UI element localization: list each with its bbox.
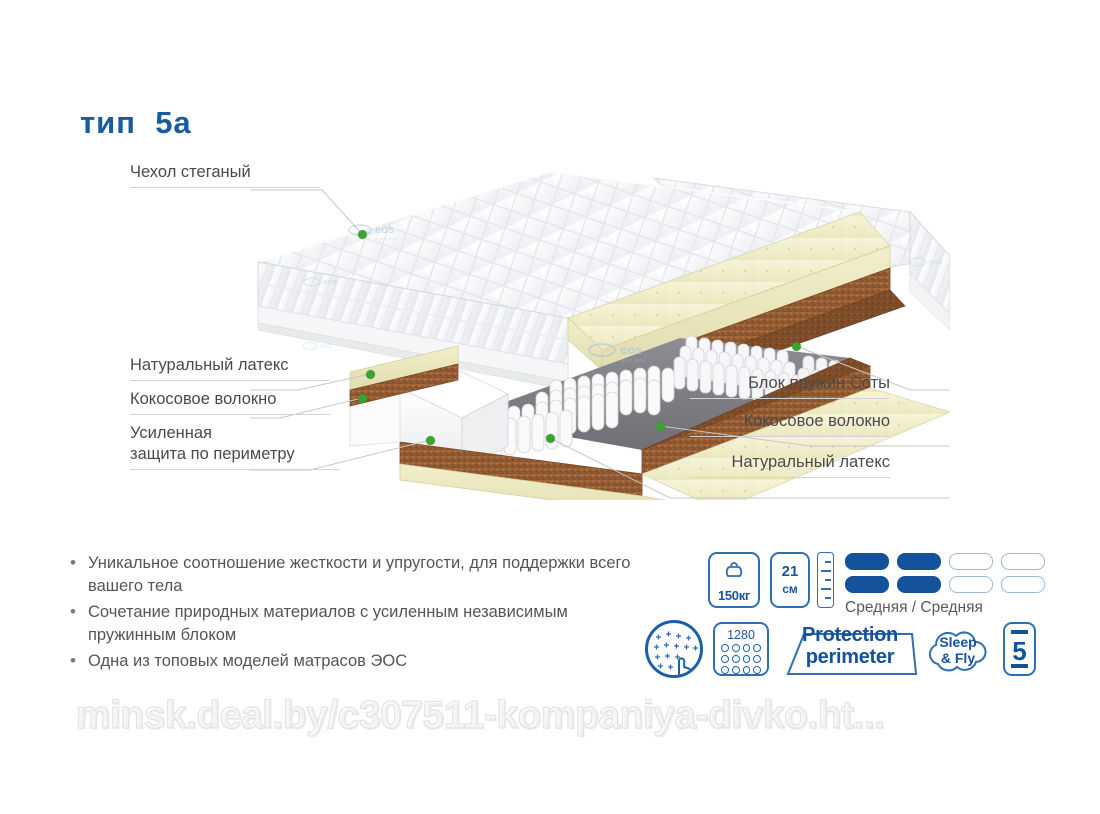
spec-icon-strip: 150кг 21 см bbox=[700, 548, 1055, 688]
feature-list: Уникальное соотношение жесткости и упруг… bbox=[64, 552, 639, 675]
firmness-row-side-b bbox=[845, 576, 1050, 593]
callout-natural-latex-right: Натуральный латекс bbox=[690, 452, 890, 473]
spring-count-badge: 1280 bbox=[713, 622, 769, 676]
firmness-indicator: Средняя / Средняя bbox=[845, 553, 1050, 617]
protection-perimeter-badge: Protection perimeter bbox=[780, 620, 920, 678]
firmness-bar bbox=[1001, 576, 1045, 593]
mattress-svg: eos mattress eos mattress eos eos bbox=[250, 150, 950, 500]
callout-rule bbox=[130, 187, 320, 188]
callout-spring-block: Блок пружин Соты bbox=[690, 373, 890, 394]
callout-rule bbox=[130, 380, 330, 381]
spring-count-grid bbox=[721, 644, 761, 677]
marker-dot-latex-bottom bbox=[546, 434, 555, 443]
marker-dot-cover bbox=[358, 230, 367, 239]
callout-natural-latex-left: Натуральный латекс bbox=[130, 355, 330, 376]
callout-coconut-fiber-left: Кокосовое волокно bbox=[130, 389, 330, 410]
marker-dot-coconut-top bbox=[358, 394, 367, 403]
firmness-bar bbox=[949, 576, 993, 593]
marker-dot-latex-top bbox=[366, 370, 375, 379]
svg-text:eos: eos bbox=[929, 258, 943, 267]
height-value: 21 bbox=[772, 563, 808, 580]
svg-text:mattress: mattress bbox=[620, 358, 647, 363]
svg-text:eos: eos bbox=[323, 278, 337, 287]
callout-reinforced-perimeter: Усиленная защита по периметру bbox=[130, 423, 340, 465]
marker-dot-springs bbox=[792, 342, 801, 351]
firmness-bar bbox=[1001, 553, 1045, 570]
watermark: minsk.deal.by/c307511-kompaniya-divko.ht… bbox=[76, 694, 1026, 738]
height-unit: см bbox=[772, 582, 808, 596]
height-badge: 21 см bbox=[770, 552, 810, 608]
svg-text:mattress: mattress bbox=[375, 236, 398, 241]
spring-count-value: 1280 bbox=[715, 628, 767, 642]
svg-text:eos: eos bbox=[320, 343, 332, 350]
list-item: Одна из топовых моделей матрасов ЭОС bbox=[64, 650, 639, 673]
firmness-label: Средняя / Средняя bbox=[845, 599, 1050, 617]
firmness-bar bbox=[897, 553, 941, 570]
marker-dot-perimeter bbox=[426, 436, 435, 445]
protection-perimeter-line2: perimeter bbox=[780, 646, 920, 669]
warranty-years-value: 5 bbox=[1005, 636, 1034, 666]
page-title: тип 5а bbox=[80, 105, 192, 141]
max-weight-value: 150кг bbox=[710, 588, 758, 603]
firmness-row-side-a bbox=[845, 553, 1050, 570]
callout-cover: Чехол стеганый bbox=[130, 162, 310, 183]
firmness-bar bbox=[949, 553, 993, 570]
svg-text:eos: eos bbox=[375, 224, 394, 236]
ruler-icon bbox=[817, 552, 834, 608]
marker-dot-coconut-bottom bbox=[656, 422, 665, 431]
protection-perimeter-line1: Protection bbox=[780, 624, 920, 647]
firmness-bar bbox=[897, 576, 941, 593]
list-item: Уникальное соотношение жесткости и упруг… bbox=[64, 552, 639, 599]
svg-text:eos: eos bbox=[620, 342, 642, 357]
callout-rule bbox=[690, 398, 890, 399]
sleep-and-fly-line2: & Fly bbox=[922, 650, 994, 666]
callout-coconut-fiber-right: Кокосовое волокно bbox=[690, 411, 890, 432]
callout-rule bbox=[130, 469, 340, 470]
mattress-product-infographic: тип 5а bbox=[0, 0, 1100, 814]
spring-touch-icon bbox=[645, 620, 703, 678]
warranty-years-badge: 5 bbox=[1003, 622, 1036, 676]
warranty-rule-top bbox=[1011, 630, 1028, 634]
callout-rule bbox=[690, 477, 890, 478]
weight-icon bbox=[723, 559, 745, 590]
mattress-cutaway-illustration: eos mattress eos mattress eos eos bbox=[250, 150, 950, 500]
max-weight-badge: 150кг bbox=[708, 552, 760, 608]
callout-rule bbox=[690, 436, 890, 437]
warranty-rule-bottom bbox=[1011, 664, 1028, 668]
callout-rule bbox=[130, 414, 330, 415]
firmness-bar bbox=[845, 553, 889, 570]
list-item: Сочетание природных материалов с усиленн… bbox=[64, 601, 639, 648]
sleep-and-fly-badge: Sleep & Fly bbox=[922, 618, 994, 678]
sleep-and-fly-line1: Sleep bbox=[922, 634, 994, 650]
firmness-bar bbox=[845, 576, 889, 593]
